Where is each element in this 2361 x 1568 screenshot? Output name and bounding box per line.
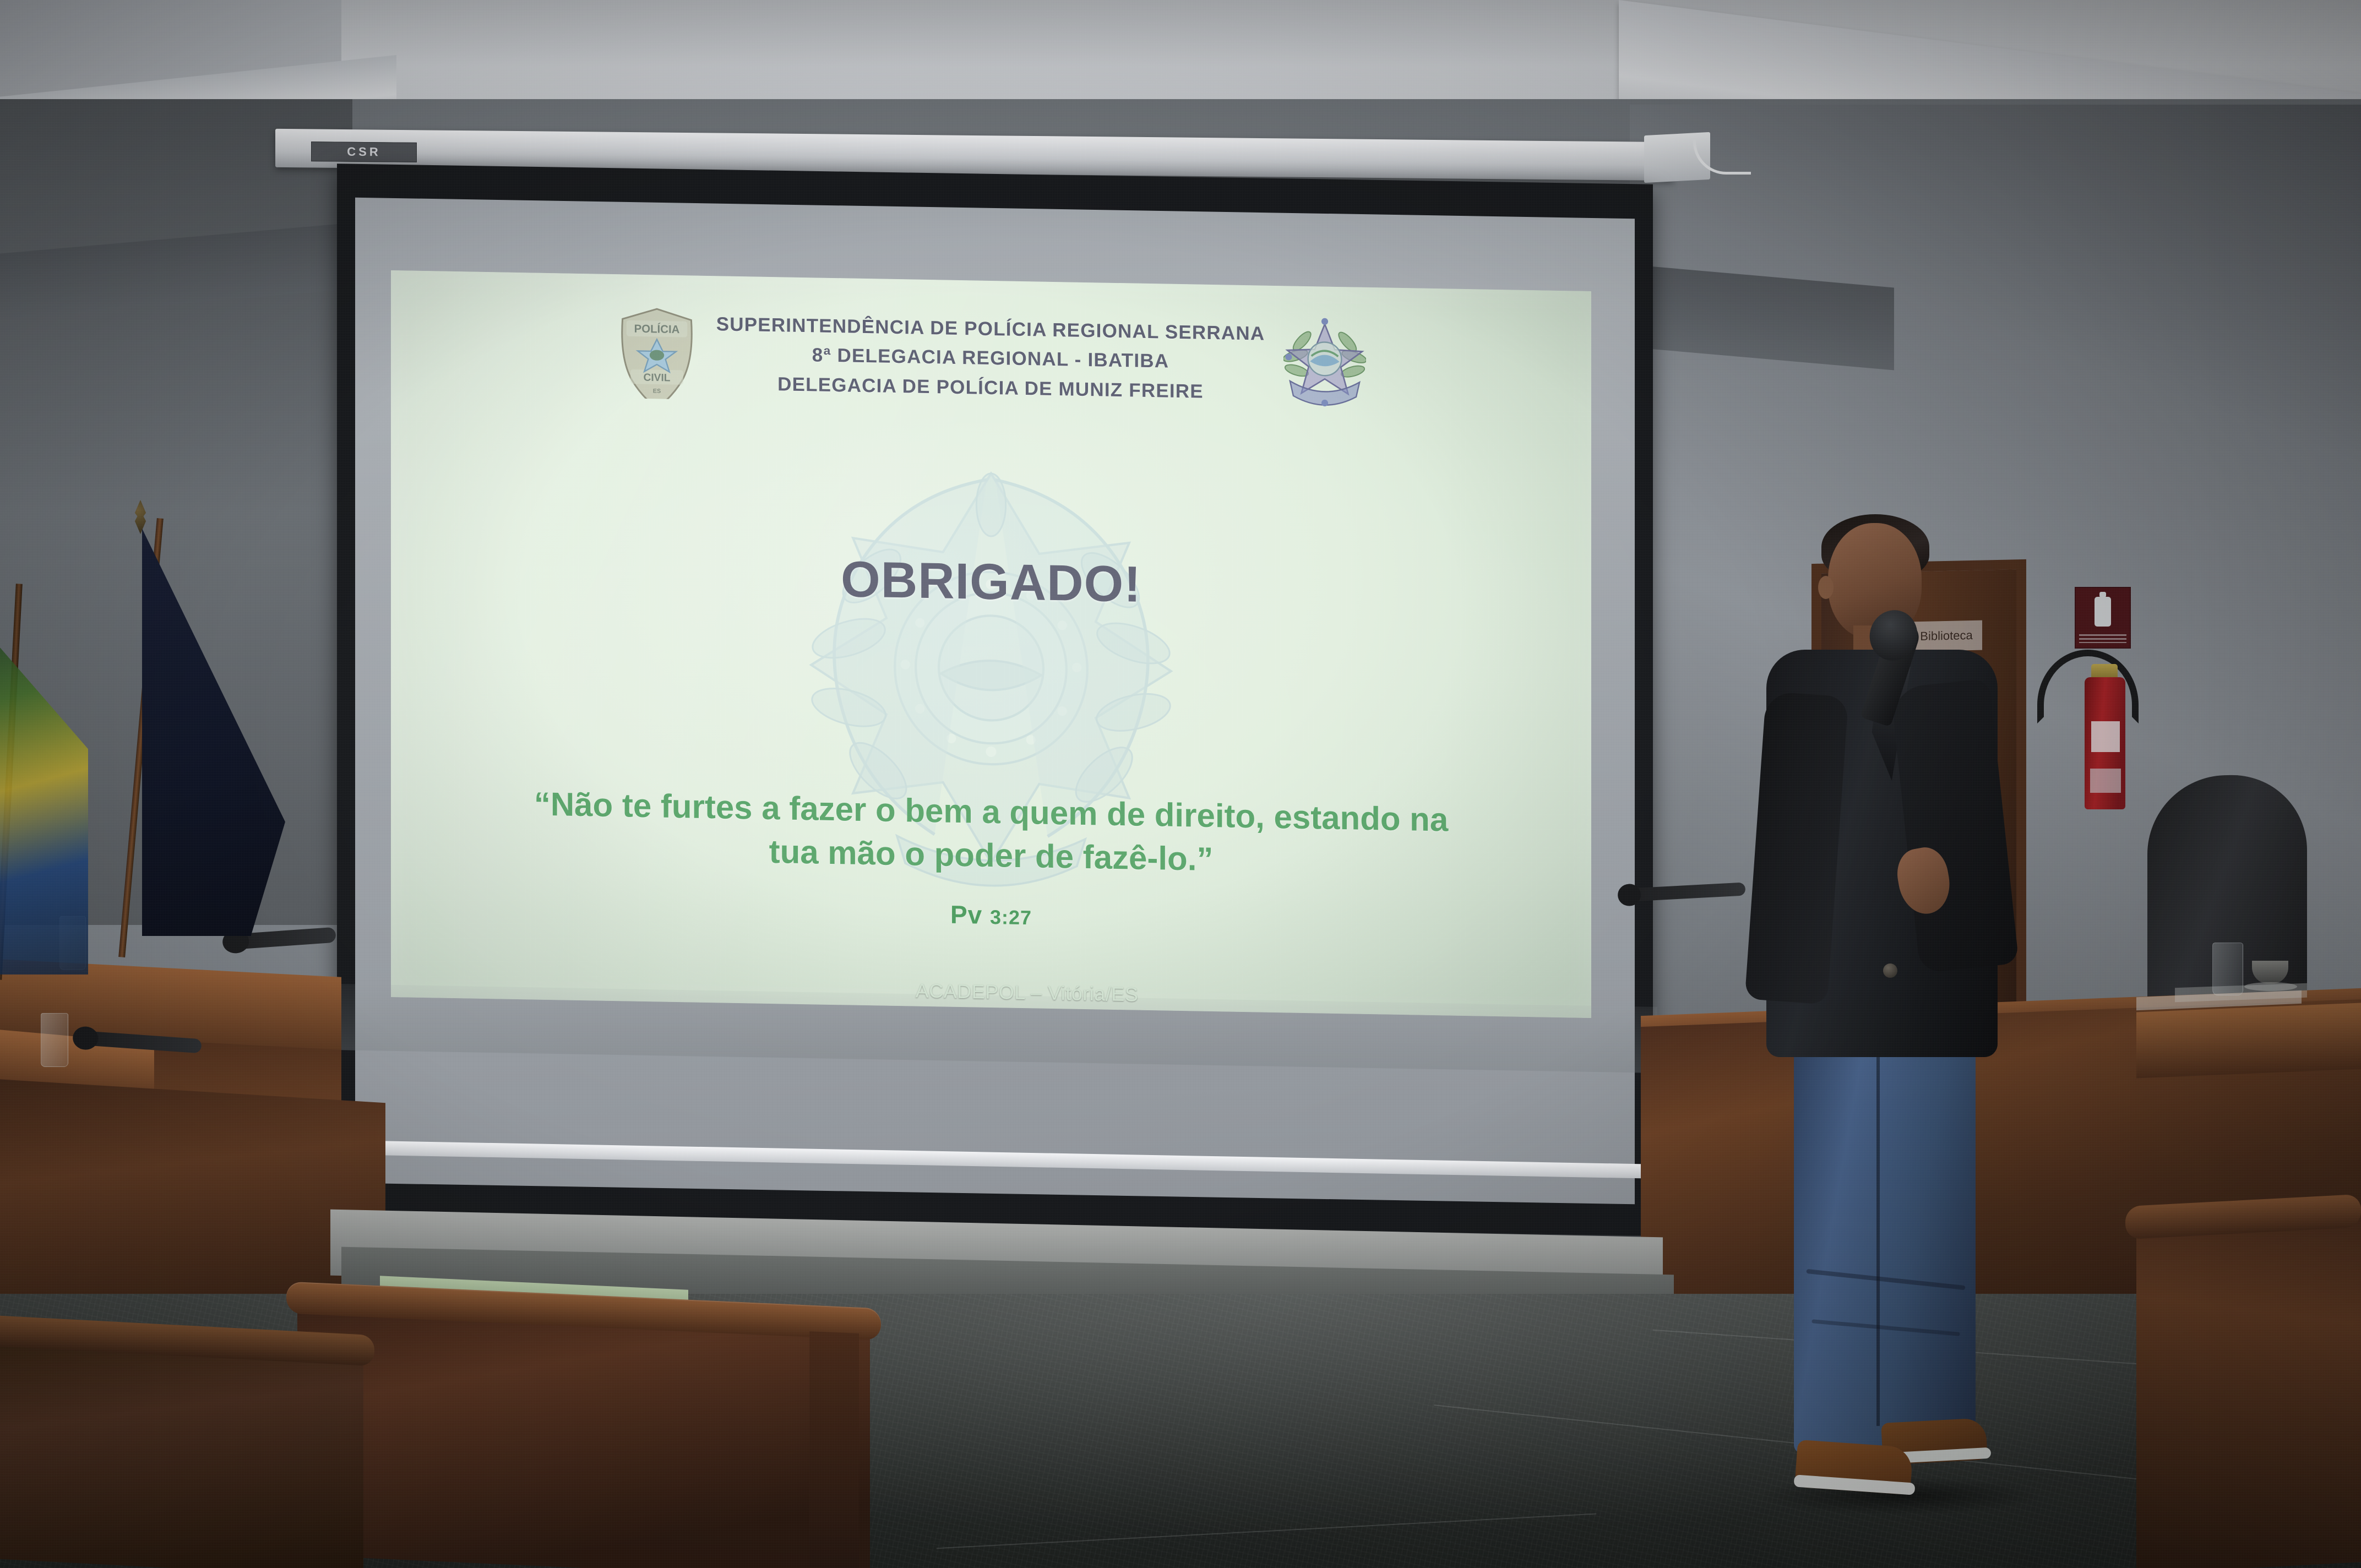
extinguisher-label-secondary (2090, 769, 2121, 793)
slide-header-lines: SUPERINTENDÊNCIA DE POLÍCIA REGIONAL SER… (716, 310, 1265, 407)
slide-header: POLÍCIA CIVIL ES SUPERINTENDÊNCIA DE POL… (391, 301, 1591, 416)
sign-caption-lines (2079, 634, 2126, 643)
espirito-santo-coat-of-arms-icon (1283, 317, 1366, 412)
badge-sub-text: ES (653, 388, 661, 394)
presenter-jacket-button (1883, 963, 1897, 978)
presenter-ear (1818, 576, 1834, 599)
badge-bottom-text: CIVIL (643, 372, 670, 384)
reference-book: Pv (950, 900, 982, 929)
water-glass-left-lower (41, 1013, 68, 1067)
presenter[interactable] (1723, 518, 2076, 1525)
projected-slide: POLÍCIA CIVIL ES SUPERINTENDÊNCIA DE POL… (391, 270, 1591, 1018)
slide-title: OBRIGADO! (391, 543, 1591, 622)
extinguisher-pictogram-icon (2095, 597, 2111, 627)
extinguisher-label (2091, 721, 2120, 752)
water-glass-right (2212, 943, 2243, 995)
badge-top-text: POLÍCIA (634, 323, 679, 336)
right-bench (2136, 1205, 2361, 1568)
jeans-seam (1876, 1041, 1880, 1426)
second-bench-back (0, 1328, 363, 1568)
right-desk-surface (2136, 1003, 2361, 1078)
reference-verse: 3:27 (990, 906, 1032, 929)
presenter-jeans (1794, 1035, 1976, 1453)
slide-quote: “Não te furtes a fazer o bem a quem de d… (418, 780, 1564, 888)
photo-scene: CSR (0, 0, 2361, 1568)
bench-leg-right (809, 1331, 859, 1568)
projector-case-label: CSR (311, 141, 417, 162)
fire-extinguisher-sign (2075, 587, 2131, 649)
policia-civil-badge-icon: POLÍCIA CIVIL ES (616, 306, 698, 400)
